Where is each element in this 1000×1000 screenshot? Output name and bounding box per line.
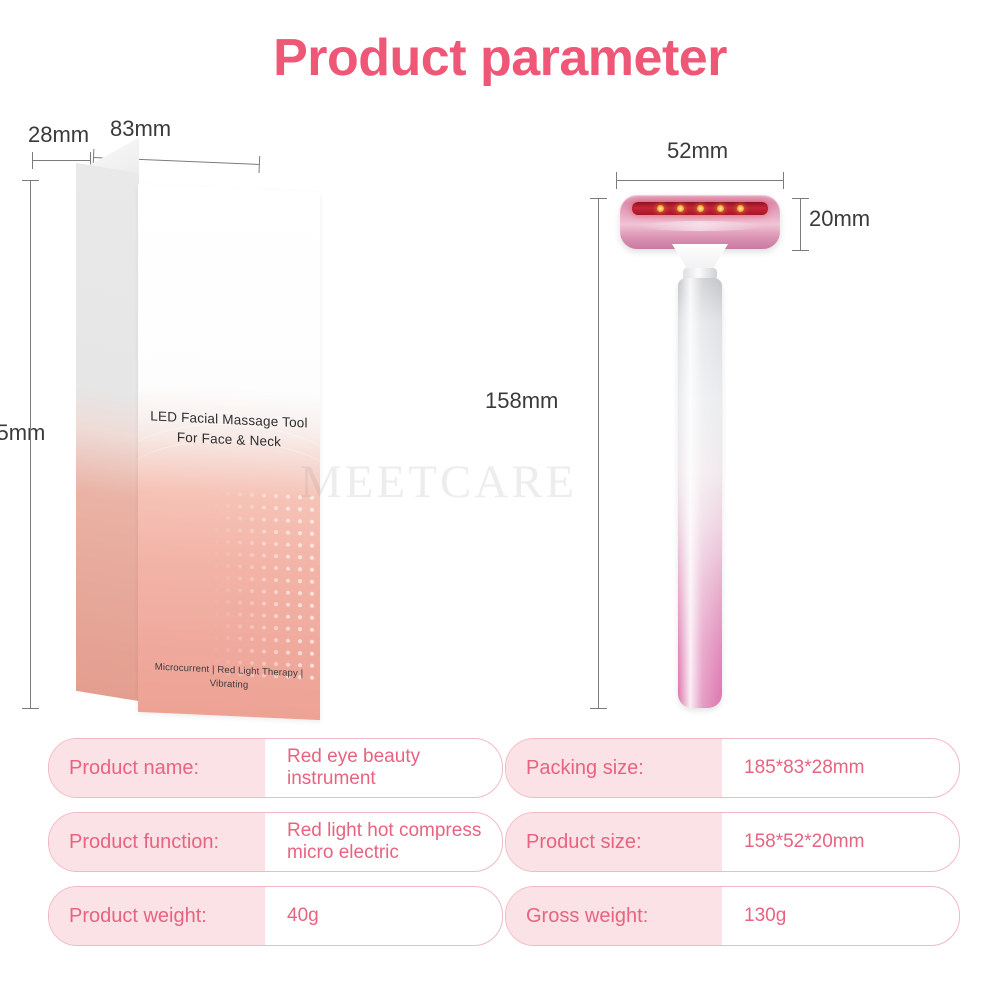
spec-row-packing-size: Packing size: 185*83*28mm (505, 738, 960, 798)
package-box-group: 28mm 83mm 185mm (0, 110, 520, 725)
spec-value: 185*83*28mm (722, 739, 959, 797)
spec-value: 158*52*20mm (722, 813, 959, 871)
dimension-cap (22, 708, 39, 709)
dimension-cap (616, 172, 617, 189)
led-dot (697, 205, 704, 212)
box-halftone-pattern (198, 487, 320, 683)
dimension-cap (22, 180, 39, 181)
dimension-label-device-length: 158mm (485, 388, 558, 414)
box-front-headline: LED Facial Massage Tool For Face & Neck (138, 406, 320, 453)
spec-row-product-weight: Product weight: 40g (48, 886, 503, 946)
led-dot (717, 205, 724, 212)
spec-value: Red light hot compress micro electric (265, 813, 502, 871)
dimension-label-head-width: 52mm (667, 138, 728, 164)
dimension-label-head-thickness: 20mm (809, 206, 870, 232)
led-dot (737, 205, 744, 212)
spec-row-product-name: Product name: Red eye beauty instrument (48, 738, 503, 798)
head-highlight (636, 221, 764, 231)
spec-value: 40g (265, 887, 502, 945)
dimension-cap (783, 172, 784, 189)
spec-row-product-function: Product function: Red light hot compress… (48, 812, 503, 872)
dimension-cap (590, 708, 607, 709)
dimension-label-box-depth: 28mm (28, 122, 89, 148)
dimension-label-box-height: 185mm (0, 420, 45, 446)
dimension-label-box-width: 83mm (110, 116, 171, 142)
box-front-panel: LED Facial Massage Tool For Face & Neck … (138, 184, 320, 720)
spec-row-gross-weight: Gross weight: 130g (505, 886, 960, 946)
box-side-panel (76, 163, 139, 701)
page-title: Product parameter (0, 28, 1000, 88)
dimension-cap (792, 250, 809, 251)
spec-value: 130g (722, 887, 959, 945)
product-illustration: 28mm 83mm 185mm (0, 110, 1000, 725)
dimension-line-box-depth (32, 160, 90, 161)
dimension-cap (258, 156, 260, 173)
device-handle (678, 278, 722, 708)
dimension-line-head-thickness (800, 198, 801, 250)
spec-label: Gross weight: (506, 887, 722, 945)
spec-label: Product function: (49, 813, 265, 871)
spec-table: Product name: Red eye beauty instrument … (48, 738, 960, 946)
device-wand-group: 52mm 20mm 158mm (520, 110, 1000, 725)
spec-value: Red eye beauty instrument (265, 739, 502, 797)
dimension-line-head-width (616, 180, 783, 181)
spec-row-product-size: Product size: 158*52*20mm (505, 812, 960, 872)
dimension-cap (590, 198, 607, 199)
spec-label: Product weight: (49, 887, 265, 945)
device-led-head (620, 195, 780, 249)
dimension-cap (32, 152, 33, 169)
dimension-line-box-height (30, 180, 31, 708)
dimension-line-device-length (598, 198, 599, 708)
dimension-cap (792, 198, 809, 199)
spec-label: Product size: (506, 813, 722, 871)
led-strip (632, 202, 768, 215)
spec-label: Product name: (49, 739, 265, 797)
spec-label: Packing size: (506, 739, 722, 797)
led-dot (677, 205, 684, 212)
led-dot (657, 205, 664, 212)
